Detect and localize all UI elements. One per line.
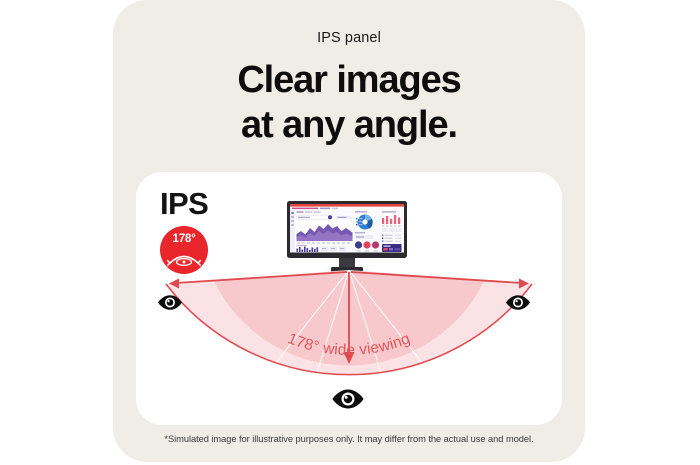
eye-icon: [331, 388, 365, 410]
ips-wordmark: IPS: [160, 186, 208, 222]
eye-icon: [157, 294, 183, 311]
viewing-angle-arc-icon: [167, 249, 201, 267]
eye-icon: [505, 294, 531, 311]
headline-line-2: at any angle.: [113, 103, 585, 148]
desktop-monitor-icon: [287, 201, 407, 273]
illustration-panel: IPS 178°: [136, 172, 562, 425]
disclaimer-text: *Simulated image for illustrative purpos…: [113, 434, 585, 444]
page-title: Clear images at any angle.: [113, 58, 585, 148]
viewing-angle-badge: 178°: [160, 226, 208, 274]
promo-card: IPS panel Clear images at any angle. IPS…: [113, 0, 585, 462]
eyebrow-label: IPS panel: [113, 30, 585, 46]
badge-angle-value: 178°: [160, 233, 208, 245]
promo-graphic: IPS panel Clear images at any angle. IPS…: [0, 0, 700, 465]
headline-line-1: Clear images: [237, 59, 460, 101]
